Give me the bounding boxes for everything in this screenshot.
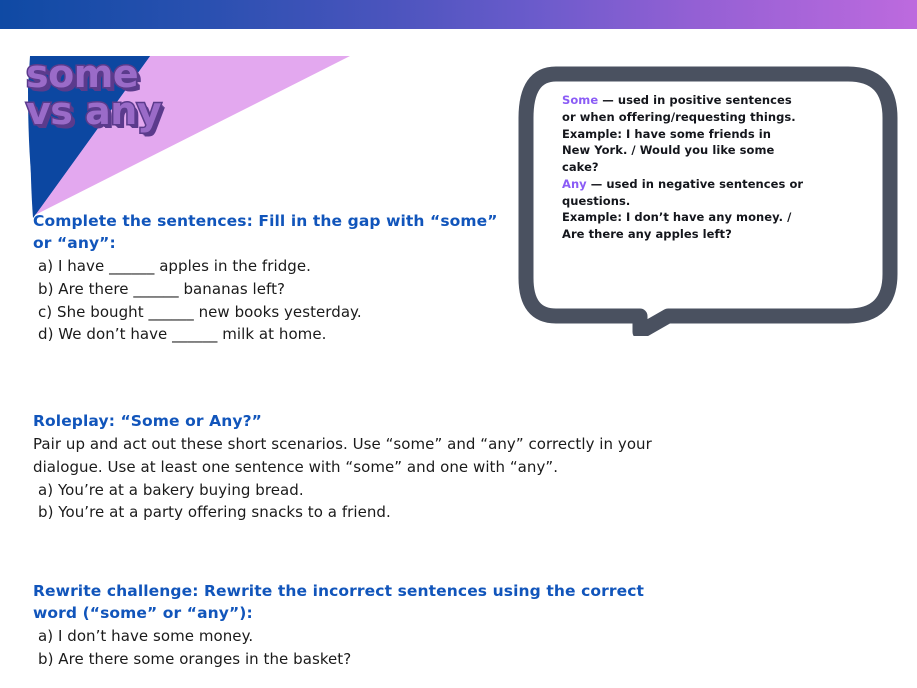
speech-bubble-line: Any — used in negative sentences or xyxy=(562,176,862,193)
info-speech-bubble: Some — used in positive sentencesor when… xyxy=(518,66,910,336)
section-heading: Rewrite challenge: Rewrite the incorrect… xyxy=(33,580,693,624)
exercise-item: b) You’re at a party offering snacks to … xyxy=(38,501,673,524)
worksheet-page: some vs any Some — used in positive sent… xyxy=(0,0,917,688)
top-gradient-bar xyxy=(0,0,917,29)
section-rewrite-challenge: Rewrite challenge: Rewrite the incorrect… xyxy=(33,580,693,671)
section-roleplay: Roleplay: “Some or Any?” Pair up and act… xyxy=(33,410,673,524)
section-complete-the-sentences: Complete the sentences: Fill in the gap … xyxy=(33,210,503,346)
speech-bubble-line: Example: I don’t have any money. / xyxy=(562,209,862,226)
title-line-1: some xyxy=(26,57,356,92)
exercise-item: a) You’re at a bakery buying bread. xyxy=(38,479,673,502)
speech-bubble-line: Some — used in positive sentences xyxy=(562,92,862,109)
speech-bubble-line: questions. xyxy=(562,193,862,210)
exercise-item: b) Are there some oranges in the basket? xyxy=(38,648,693,671)
exercise-item: a) I have ______ apples in the fridge. xyxy=(38,255,503,278)
exercise-item: a) I don’t have some money. xyxy=(38,625,693,648)
exercise-item: d) We don’t have ______ milk at home. xyxy=(38,323,503,346)
exercise-item: b) Are there ______ bananas left? xyxy=(38,278,503,301)
exercise-item: c) She bought ______ new books yesterday… xyxy=(38,301,503,324)
section-intro: Pair up and act out these short scenario… xyxy=(33,433,673,479)
speech-bubble-line: Example: I have some friends in xyxy=(562,126,862,143)
section-items: a) You’re at a bakery buying bread.b) Yo… xyxy=(33,479,673,525)
keyword-accent: Some xyxy=(562,93,598,107)
speech-bubble-line: Are there any apples left? xyxy=(562,226,862,243)
section-items: a) I don’t have some money.b) Are there … xyxy=(33,625,693,671)
section-heading: Roleplay: “Some or Any?” xyxy=(33,410,673,432)
speech-bubble-line: cake? xyxy=(562,159,862,176)
section-items: a) I have ______ apples in the fridge.b)… xyxy=(33,255,503,346)
speech-bubble-line: New York. / Would you like some xyxy=(562,142,862,159)
worksheet-title: some vs any xyxy=(26,57,356,129)
speech-bubble-text: Some — used in positive sentencesor when… xyxy=(562,92,862,243)
speech-bubble-line: or when offering/requesting things. xyxy=(562,109,862,126)
keyword-accent: Any xyxy=(562,177,587,191)
section-heading: Complete the sentences: Fill in the gap … xyxy=(33,210,503,254)
title-line-2: vs any xyxy=(26,94,356,129)
